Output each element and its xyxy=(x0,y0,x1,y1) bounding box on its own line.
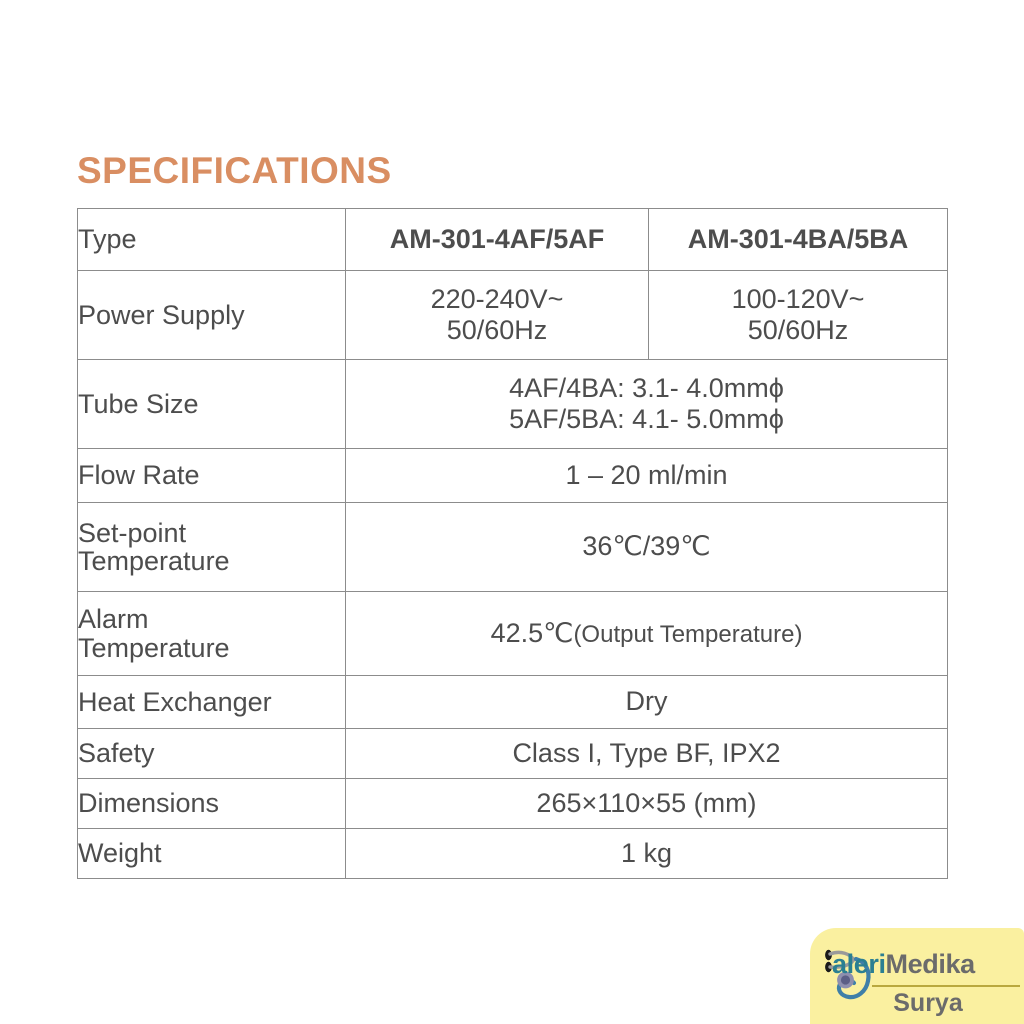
watermark-brand-primary: aleri xyxy=(832,949,886,979)
row-label-tube-size: Tube Size xyxy=(78,360,346,449)
table-row-safety: Safety Class I, Type BF, IPX2 xyxy=(78,729,948,779)
row-label-flow-rate: Flow Rate xyxy=(78,449,346,503)
cell-alarm-temperature-note: (Output Temperature) xyxy=(573,621,802,648)
row-label-heat-exchanger: Heat Exchanger xyxy=(78,676,346,729)
table-row-dimensions: Dimensions 265×110×55 (mm) xyxy=(78,779,948,829)
cell-heat-exchanger-value: Dry xyxy=(346,676,948,729)
table-row-alarm-temperature: Alarm Temperature 42.5℃(Output Temperatu… xyxy=(78,592,948,676)
cell-power-supply-model-a-line2: 50/60Hz xyxy=(346,315,648,346)
table-row-flow-rate: Flow Rate 1 – 20 ml/min xyxy=(78,449,948,503)
cell-power-supply-model-b-line2: 50/60Hz xyxy=(649,315,947,346)
watermark-brand: aleriMedika xyxy=(832,951,975,978)
cell-set-point-temperature-value: 36℃/39℃ xyxy=(346,503,948,592)
row-label-weight: Weight xyxy=(78,829,346,879)
cell-power-supply-model-a-line1: 220-240V~ xyxy=(346,284,648,315)
table-row-power-supply: Power Supply 220-240V~ 50/60Hz 100-120V~… xyxy=(78,271,948,360)
row-label-set-point-line2: Temperature xyxy=(78,547,345,575)
cell-dimensions-value: 265×110×55 (mm) xyxy=(346,779,948,829)
cell-power-supply-model-a: 220-240V~ 50/60Hz xyxy=(346,271,649,360)
cell-alarm-temperature-value: 42.5℃(Output Temperature) xyxy=(346,592,948,676)
row-label-power-supply: Power Supply xyxy=(78,271,346,360)
cell-safety-value: Class I, Type BF, IPX2 xyxy=(346,729,948,779)
cell-type-model-a: AM-301-4AF/5AF xyxy=(346,209,649,271)
cell-tube-size-value: 4AF/4BA: 3.1- 4.0mmϕ 5AF/5BA: 4.1- 5.0mm… xyxy=(346,360,948,449)
table-row-tube-size: Tube Size 4AF/4BA: 3.1- 4.0mmϕ 5AF/5BA: … xyxy=(78,360,948,449)
cell-alarm-temperature-number: 42.5℃ xyxy=(491,618,574,648)
specifications-table: Type AM-301-4AF/5AF AM-301-4BA/5BA Power… xyxy=(77,208,948,879)
cell-tube-size-line2: 5AF/5BA: 4.1- 5.0mmϕ xyxy=(346,404,947,435)
cell-weight-value: 1 kg xyxy=(346,829,948,879)
cell-flow-rate-value: 1 – 20 ml/min xyxy=(346,449,948,503)
row-label-alarm-line2: Temperature xyxy=(78,634,345,662)
watermark-badge: aleriMedika Surya xyxy=(810,928,1024,1024)
cell-power-supply-model-b: 100-120V~ 50/60Hz xyxy=(649,271,948,360)
table-row-weight: Weight 1 kg xyxy=(78,829,948,879)
table-row-heat-exchanger: Heat Exchanger Dry xyxy=(78,676,948,729)
row-label-set-point-temperature: Set-point Temperature xyxy=(78,503,346,592)
page-title: SPECIFICATIONS xyxy=(77,152,392,189)
row-label-safety: Safety xyxy=(78,729,346,779)
row-label-alarm-line1: Alarm xyxy=(78,605,345,633)
table-row-type: Type AM-301-4AF/5AF AM-301-4BA/5BA xyxy=(78,209,948,271)
row-label-type: Type xyxy=(78,209,346,271)
watermark-brand-secondary: Medika xyxy=(886,949,975,979)
row-label-dimensions: Dimensions xyxy=(78,779,346,829)
cell-tube-size-line1: 4AF/4BA: 3.1- 4.0mmϕ xyxy=(346,373,947,404)
cell-power-supply-model-b-line1: 100-120V~ xyxy=(649,284,947,315)
watermark-tagline: Surya xyxy=(810,988,1024,1018)
cell-type-model-b: AM-301-4BA/5BA xyxy=(649,209,948,271)
table-row-set-point-temperature: Set-point Temperature 36℃/39℃ xyxy=(78,503,948,592)
row-label-alarm-temperature: Alarm Temperature xyxy=(78,592,346,676)
watermark-divider xyxy=(872,985,1020,987)
row-label-set-point-line1: Set-point xyxy=(78,519,345,547)
